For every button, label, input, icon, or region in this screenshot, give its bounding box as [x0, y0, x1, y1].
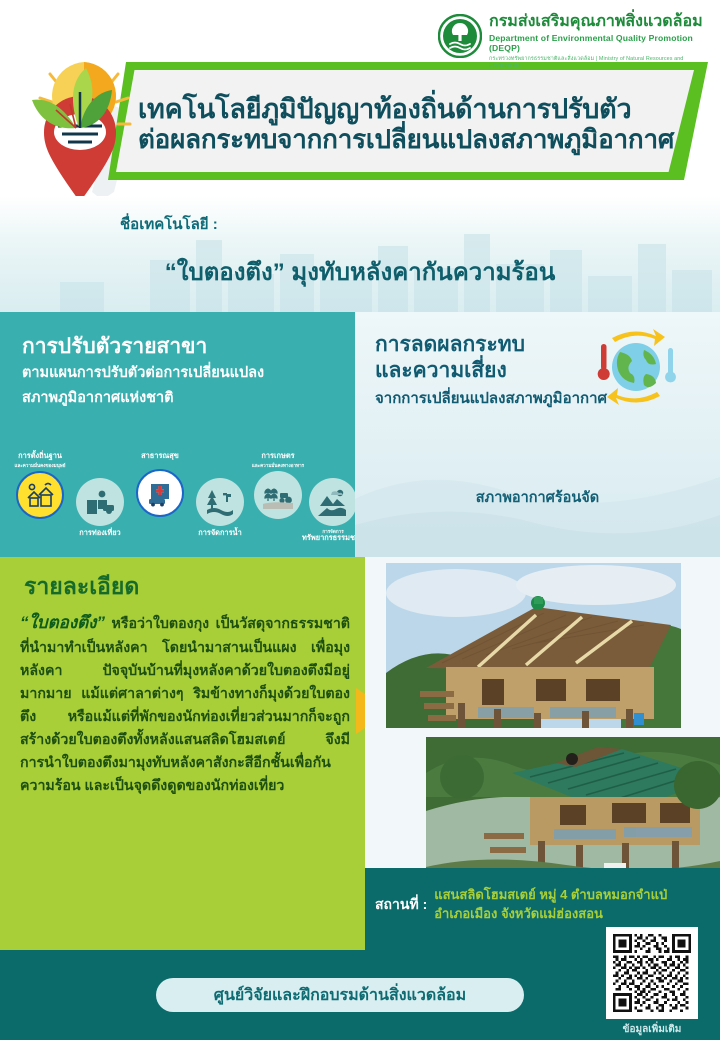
location-label: สถานที่ :	[375, 894, 427, 916]
technology-name-strip: ชื่อเทคโนโลยี : “ใบตองตึง” มุงทับหลังคาก…	[0, 196, 720, 312]
logo-thai-name: กรมส่งเสริมคุณภาพสิ่งแวดล้อม	[489, 14, 706, 31]
location-value: แสนสลิดโฮมสเตย์ หมู่ 4 ตำบลหมอกจำแป่ อำเ…	[434, 886, 667, 924]
sector-label-settlement: การตั้งถิ่นฐาน	[12, 452, 68, 460]
settlement-icon	[16, 471, 64, 519]
details-lead-term: “ใบตองตึง”	[20, 613, 105, 632]
photo-leaf-thatched-roof-construction	[386, 563, 681, 728]
sector-icon-row: การตั้งถิ่นฐาน และความมั่นคงของมนุษย์	[10, 452, 355, 552]
water-management-icon	[196, 478, 244, 526]
sector-sublabel-agriculture: และความมั่นคงทางอาหาร	[250, 463, 306, 468]
qr-caption: ข้อมูลเพิ่มเติม	[596, 1022, 708, 1037]
photo-homestay-green-roof	[426, 737, 720, 887]
deqp-seal-icon	[438, 14, 482, 58]
sector-label-water-management: การจัดการน้ำ	[192, 529, 248, 537]
sector-label-public-health: สาธารณสุข	[132, 452, 188, 460]
details-body-text: หรือว่าใบตองกุง เป็นวัสดุจากธรรมชาติที่น…	[20, 616, 350, 794]
sector-label-tourism: การท่องเที่ยว	[72, 529, 128, 537]
page-title-line1: เทคโนโลยีภูมิปัญญาท้องถิ่นด้านการปรับตัว	[138, 94, 698, 124]
sector-item-tourism[interactable]: การท่องเที่ยว	[72, 478, 128, 537]
infographic-poster: เทคโนโลยีภูมิปัญญาท้องถิ่นด้านการปรับตัว…	[0, 0, 720, 1040]
organization-name: ศูนย์วิจัยและฝึกอบรมด้านสิ่งแวดล้อม	[214, 983, 466, 1008]
tourism-icon	[76, 478, 124, 526]
logo-english-name: Department of Environmental Quality Prom…	[489, 33, 706, 53]
agriculture-icon	[254, 471, 302, 519]
qr-code[interactable]	[606, 927, 698, 1019]
sector-panel-sub2: สภาพภูมิอากาศแห่งชาติ	[22, 388, 341, 409]
cold-thermometer	[665, 348, 676, 382]
organization-pill: ศูนย์วิจัยและฝึกอบรมด้านสิ่งแวดล้อม	[156, 978, 524, 1012]
details-body: “ใบตองตึง” หรือว่าใบตองกุง เป็นวัสดุจากธ…	[20, 609, 350, 798]
page-title-line2: ต่อผลกระทบจากการเปลี่ยนแปลงสภาพภูมิอากาศ	[138, 125, 698, 154]
sector-item-settlement[interactable]: การตั้งถิ่นฐาน และความมั่นคงของมนุษย์	[12, 452, 68, 519]
sector-panel-sub1: ตามแผนการปรับตัวต่อการเปลี่ยนแปลง	[22, 363, 341, 384]
public-health-icon	[136, 469, 184, 517]
location-line2: อำเภอเมือง จังหวัดแม่ฮ่องสอน	[434, 905, 667, 924]
natural-resources-icon	[309, 478, 357, 526]
logo-ministry-line: กระทรวงทรัพยากรธรรมชาติและสิ่งแวดล้อม | …	[489, 55, 706, 69]
lightbulb-map-pin-icon	[6, 52, 156, 196]
deqp-logo: กรมส่งเสริมคุณภาพสิ่งแวดล้อม Department …	[438, 14, 706, 66]
sector-label-agriculture: การเกษตร	[250, 452, 306, 460]
panels-row: การปรับตัวรายสาขา ตามแผนการปรับตัวต่อการ…	[0, 312, 720, 557]
qr-code-image	[613, 934, 691, 1012]
location-line1: แสนสลิดโฮมสเตย์ หมู่ 4 ตำบลหมอกจำแป่	[434, 886, 667, 905]
details-heading: รายละเอียด	[24, 569, 139, 605]
sector-sublabel-settlement: และความมั่นคงของมนุษย์	[12, 463, 68, 468]
sector-panel-heading: การปรับตัวรายสาขา	[22, 334, 341, 359]
footer-green-accent	[0, 942, 365, 950]
sector-item-public-health[interactable]: สาธารณสุข	[132, 452, 188, 517]
sector-adaptation-panel: การปรับตัวรายสาขา ตามแผนการปรับตัวต่อการ…	[0, 312, 355, 557]
deqp-logo-text: กรมส่งเสริมคุณภาพสิ่งแวดล้อม Department …	[489, 14, 706, 69]
risk-label: สภาพอากาศร้อนจัด	[355, 486, 720, 509]
hot-thermometer	[598, 344, 610, 380]
globe-thermometer-icon	[586, 326, 682, 408]
impact-reduction-panel: การลดผลกระทบ และความเสี่ยง จากการเปลี่ยน…	[355, 312, 720, 557]
page-title: เทคโนโลยีภูมิปัญญาท้องถิ่นด้านการปรับตัว…	[138, 76, 698, 172]
technology-name-value: “ใบตองตึง” มุงทับหลังคากันความร้อน	[0, 252, 720, 291]
details-panel: รายละเอียด “ใบตองตึง” หรือว่าใบตองกุง เป…	[0, 557, 365, 942]
technology-name-label: ชื่อเทคโนโลยี :	[120, 212, 218, 236]
sector-item-water-management[interactable]: การจัดการน้ำ	[192, 478, 248, 537]
sector-item-agriculture[interactable]: การเกษตร และความมั่นคงทางอาหาร	[250, 452, 306, 519]
poster-header: เทคโนโลยีภูมิปัญญาท้องถิ่นด้านการปรับตัว…	[0, 0, 720, 196]
